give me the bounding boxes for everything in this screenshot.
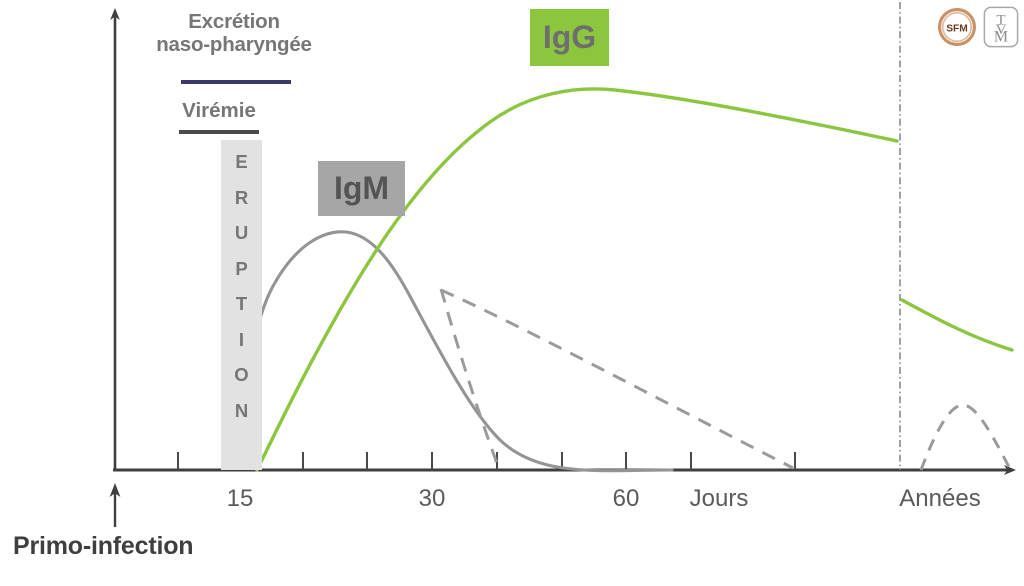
viremie-label: Virémie	[163, 100, 275, 123]
igm-series-label: IgM	[318, 161, 405, 216]
igg-curve-days	[257, 89, 897, 470]
eruption-letter: R	[235, 180, 248, 216]
eruption-letter: N	[235, 393, 248, 429]
igm-dashed-slow	[441, 290, 793, 468]
eruption-letter: T	[236, 286, 247, 322]
eruption-band: E R U P T I O N	[221, 140, 262, 470]
eruption-letter: P	[235, 251, 247, 287]
chart-plot-area	[0, 0, 1024, 586]
x-tick-label-15: 15	[212, 485, 268, 513]
x-axis-unit-annees: Années	[880, 485, 1000, 513]
x-axis-unit-jours: Jours	[669, 485, 769, 513]
eruption-letter: I	[239, 322, 244, 358]
eruption-letter: U	[235, 215, 248, 251]
sfm-logo-text: SFM	[946, 23, 968, 34]
primo-infection-label: Primo-infection	[13, 532, 193, 561]
excretion-naso-pharyngee-label: Excrétion naso-pharyngée	[128, 11, 340, 57]
x-tick-label-30: 30	[404, 485, 460, 513]
x-tick-label-60: 60	[598, 485, 654, 513]
igm-dashed-steep	[441, 289, 499, 469]
eruption-letter: O	[234, 357, 248, 393]
sfm-logo[interactable]: SFM	[937, 7, 977, 47]
figure-canvas: Excrétion naso-pharyngée Virémie E R U P…	[0, 0, 1024, 586]
y-axis	[110, 8, 120, 470]
igg-series-label: IgG	[530, 9, 609, 66]
viremie-duration-bar	[179, 130, 259, 134]
excretion-duration-bar	[181, 80, 291, 84]
primo-infection-arrow	[110, 483, 121, 527]
igg-curve-years	[902, 300, 1012, 350]
igm-curve	[238, 232, 672, 471]
tvm-logo[interactable]: T V M	[983, 6, 1019, 48]
eruption-letter: E	[235, 144, 247, 180]
tvm-logo-letter-m: M	[994, 29, 1008, 46]
igm-reinfection-bump	[921, 405, 1010, 470]
x-axis-ticks	[178, 452, 795, 470]
